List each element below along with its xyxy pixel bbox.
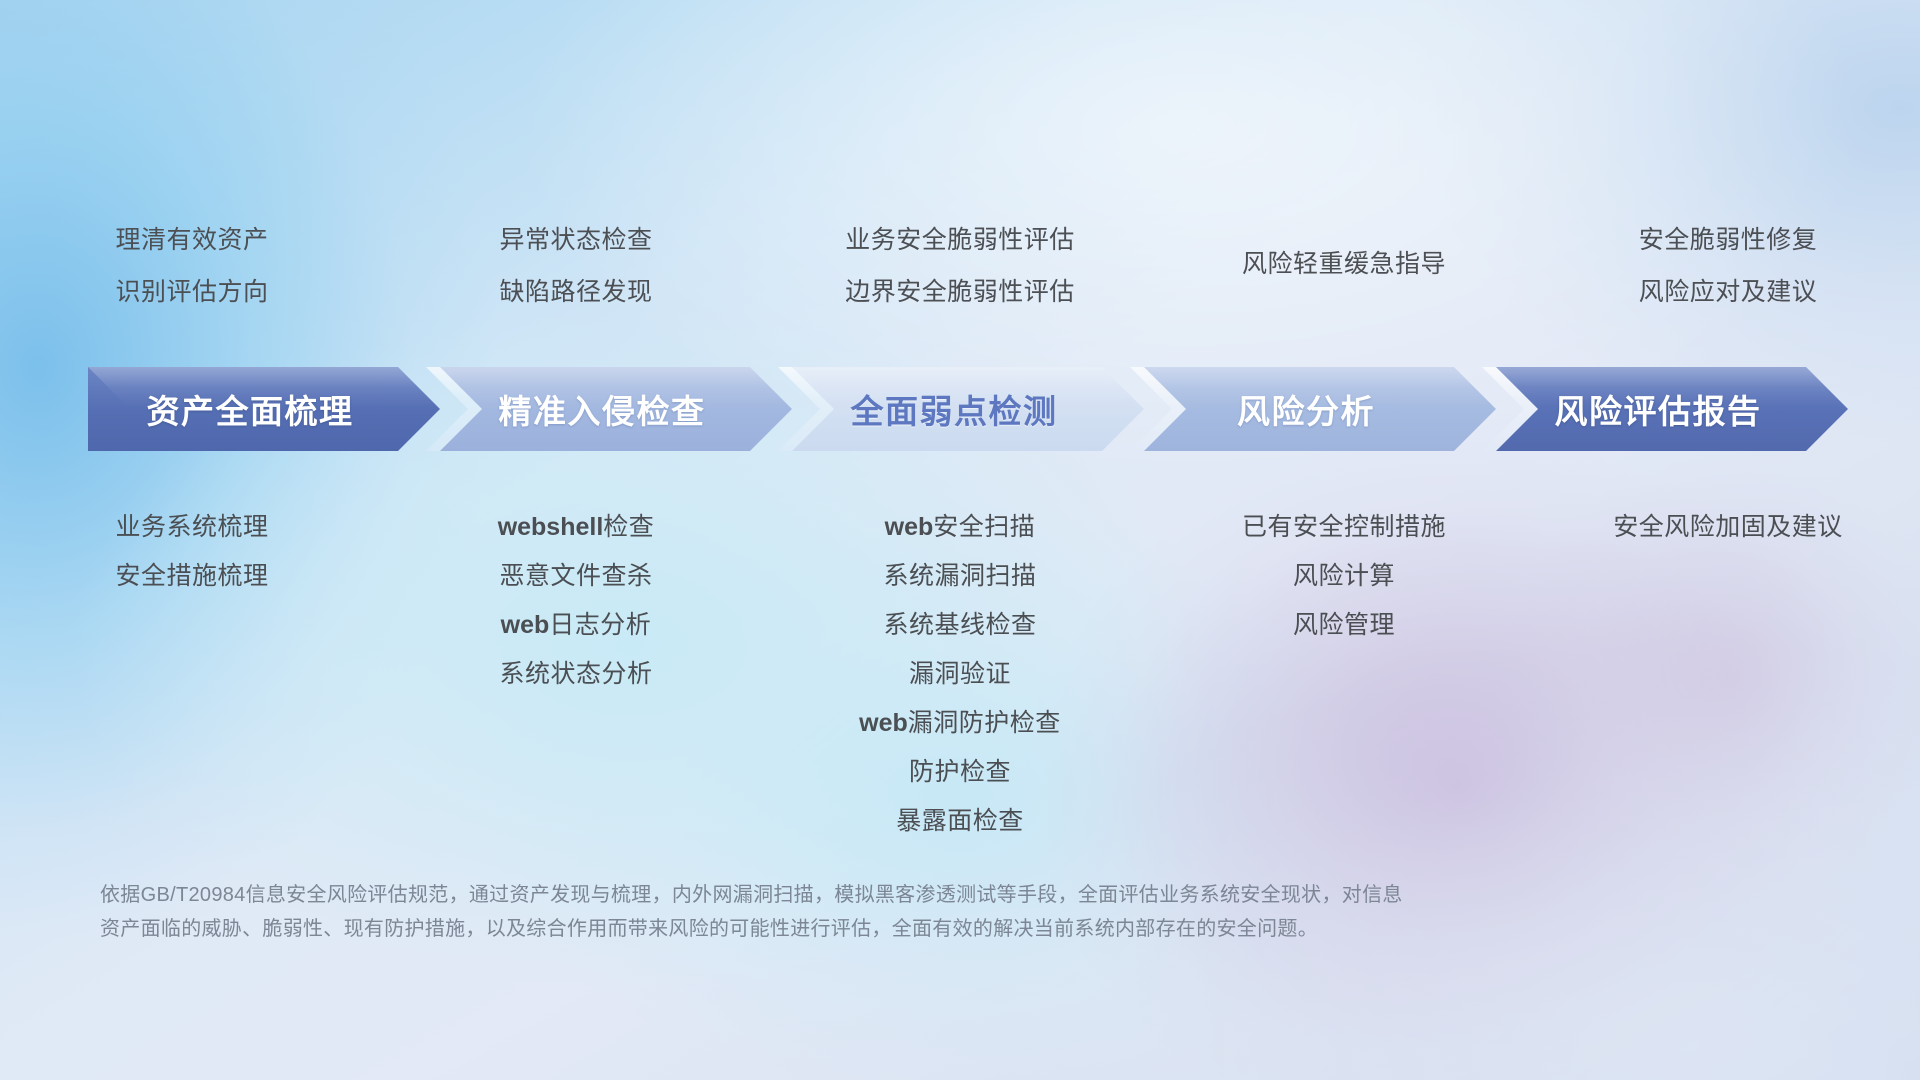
top-bullet: 风险轻重缓急指导 <box>1152 252 1536 277</box>
bottom-bullet: 系统漏洞扫描 <box>768 564 1152 589</box>
footer-line-2: 资产面临的威胁、脆弱性、现有防护措施，以及综合作用而带来风险的可能性进行评估，全… <box>100 912 1620 946</box>
chevron-label: 全面弱点检测 <box>851 385 1058 433</box>
bottom-bullet-text: 风险管理 <box>1293 611 1395 639</box>
bottom-bullet-text: 安全措施梳理 <box>115 562 268 590</box>
bottom-bullet: 漏洞验证 <box>768 662 1152 687</box>
top-bullet: 安全脆弱性修复 <box>1536 228 1920 253</box>
bottom-bullets-column-4: 已有安全控制措施风险计算风险管理 <box>1152 515 1536 858</box>
top-bullets-column-3: 业务安全脆弱性评估 边界安全脆弱性评估 <box>768 228 1152 332</box>
bottom-bullet: 风险计算 <box>1152 564 1536 589</box>
bottom-bullet: 安全措施梳理 <box>0 564 384 589</box>
bottom-bullet-text: 安全扫描 <box>933 513 1035 541</box>
footer-line-1: 依据GB/T20984信息安全风险评估规范，通过资产发现与梳理，内外网漏洞扫描，… <box>100 878 1620 912</box>
bottom-bullet: 暴露面检查 <box>768 809 1152 834</box>
bottom-bullet-text: 已有安全控制措施 <box>1242 513 1446 541</box>
bottom-bullets-column-2: webshell检查恶意文件查杀web日志分析系统状态分析 <box>384 515 768 858</box>
top-bullet: 识别评估方向 <box>0 280 384 305</box>
bottom-bullet: 风险管理 <box>1152 613 1536 638</box>
bottom-bullet: 已有安全控制措施 <box>1152 515 1536 540</box>
bottom-bullet-text: 业务系统梳理 <box>115 513 268 541</box>
chevron-step-4-risk-analysis[interactable]: 风险分析 <box>1144 367 1496 451</box>
top-bullet: 业务安全脆弱性评估 <box>768 228 1152 253</box>
chevron-step-2-intrusion-check[interactable]: 精准入侵检查 <box>440 367 792 451</box>
bottom-bullets-track: 业务系统梳理安全措施梳理 webshell检查恶意文件查杀web日志分析系统状态… <box>0 515 1920 858</box>
top-bullets-column-5: 安全脆弱性修复 风险应对及建议 <box>1536 228 1920 332</box>
bottom-bullet-text: 日志分析 <box>549 611 651 639</box>
bottom-bullet-text: 漏洞验证 <box>909 660 1011 688</box>
chevron-label: 精准入侵检查 <box>499 385 706 433</box>
bottom-bullet: webshell检查 <box>384 515 768 540</box>
bottom-bullet: 安全风险加固及建议 <box>1536 515 1920 540</box>
chevron-step-1-asset-inventory[interactable]: 资产全面梳理 <box>88 367 440 451</box>
footer-description: 依据GB/T20984信息安全风险评估规范，通过资产发现与梳理，内外网漏洞扫描，… <box>100 878 1620 946</box>
bottom-bullet-text: 风险计算 <box>1293 562 1395 590</box>
chevron-step-5-assessment-report[interactable]: 风险评估报告 <box>1496 367 1848 451</box>
bottom-bullet-latin: webshell <box>498 513 604 541</box>
bottom-bullet: 系统状态分析 <box>384 662 768 687</box>
process-chevron-banner: 资产全面梳理 精准入侵检查 全面弱点检测 风险分析 风险评估报告 <box>88 367 1848 451</box>
bottom-bullet-text: 检查 <box>603 513 654 541</box>
top-bullet: 缺陷路径发现 <box>384 280 768 305</box>
bottom-bullet-latin: web <box>501 611 550 639</box>
top-bullet: 异常状态检查 <box>384 228 768 253</box>
bottom-bullet: 恶意文件查杀 <box>384 564 768 589</box>
top-bullets-column-4: 风险轻重缓急指导 <box>1152 228 1536 332</box>
chevron-step-3-weakness-detection[interactable]: 全面弱点检测 <box>792 367 1144 451</box>
bottom-bullet-text: 安全风险加固及建议 <box>1613 513 1843 541</box>
bottom-bullet-text: 恶意文件查杀 <box>499 562 652 590</box>
top-bullets-track: 理清有效资产 识别评估方向 异常状态检查 缺陷路径发现 业务安全脆弱性评估 边界… <box>0 228 1920 332</box>
bottom-bullet-latin: web <box>885 513 934 541</box>
bottom-bullet-text: 暴露面检查 <box>896 807 1024 835</box>
top-bullets-column-2: 异常状态检查 缺陷路径发现 <box>384 228 768 332</box>
bottom-bullets-column-5: 安全风险加固及建议 <box>1536 515 1920 858</box>
top-bullets-column-1: 理清有效资产 识别评估方向 <box>0 228 384 332</box>
slide-canvas: 理清有效资产 识别评估方向 异常状态检查 缺陷路径发现 业务安全脆弱性评估 边界… <box>0 0 1920 1080</box>
bottom-bullet: 系统基线检查 <box>768 613 1152 638</box>
bottom-bullet-text: 系统漏洞扫描 <box>883 562 1036 590</box>
top-bullet: 边界安全脆弱性评估 <box>768 280 1152 305</box>
bottom-bullet: web安全扫描 <box>768 515 1152 540</box>
bottom-bullet-text: 防护检查 <box>909 758 1011 786</box>
top-bullet: 风险应对及建议 <box>1536 280 1920 305</box>
top-bullet: 理清有效资产 <box>0 228 384 253</box>
bottom-bullet: web漏洞防护检查 <box>768 711 1152 736</box>
chevron-label: 资产全面梳理 <box>147 385 354 433</box>
bottom-bullet-text: 系统基线检查 <box>883 611 1036 639</box>
bottom-bullet: web日志分析 <box>384 613 768 638</box>
chevron-label: 风险分析 <box>1237 385 1375 433</box>
bottom-bullets-column-3: web安全扫描系统漏洞扫描系统基线检查漏洞验证web漏洞防护检查防护检查暴露面检… <box>768 515 1152 858</box>
bottom-bullets-column-1: 业务系统梳理安全措施梳理 <box>0 515 384 858</box>
bottom-bullet: 防护检查 <box>768 760 1152 785</box>
chevron-label: 风险评估报告 <box>1555 385 1762 433</box>
bottom-bullet-text: 系统状态分析 <box>499 660 652 688</box>
bottom-bullet: 业务系统梳理 <box>0 515 384 540</box>
bottom-bullet-text: 漏洞防护检查 <box>908 709 1061 737</box>
bottom-bullet-latin: web <box>859 709 908 737</box>
